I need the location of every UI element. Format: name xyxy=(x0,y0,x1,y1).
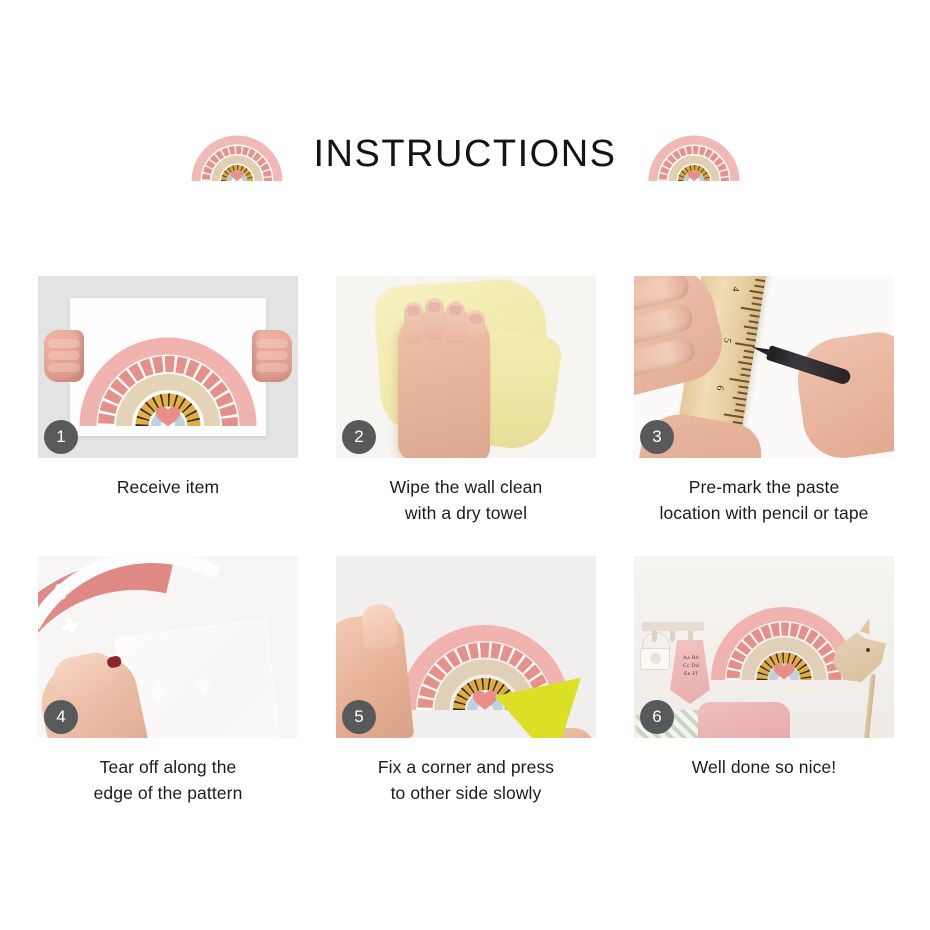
step-photo-1: 1 xyxy=(38,276,298,458)
ruler-number: 6 xyxy=(714,385,726,392)
step-card-3: 4 5 6 7 3 Pre-mark the paste location wi… xyxy=(634,276,894,526)
caption-line: Tear off along the xyxy=(38,754,298,780)
step-caption-1: Receive item xyxy=(38,474,298,500)
bag-letters: Aa Bb Cc Dd Ee Ff xyxy=(674,654,708,678)
rainbow-icon-right xyxy=(647,124,741,184)
step-caption-2: Wipe the wall clean with a dry towel xyxy=(336,474,596,526)
pink-pillow xyxy=(698,702,790,738)
pen-holding-hand xyxy=(792,329,894,458)
toy-camera xyxy=(640,648,670,670)
step-badge-6: 6 xyxy=(640,700,674,734)
caption-line: Well done so nice! xyxy=(634,754,894,780)
caption-line: with a dry towel xyxy=(336,500,596,526)
instruction-steps-grid: 1 Receive item 2 Wipe the wall clean wit… xyxy=(38,276,894,806)
step-badge-3: 3 xyxy=(640,420,674,454)
step-photo-5: 5 xyxy=(336,556,596,738)
step-badge-2: 2 xyxy=(342,420,376,454)
rainbow-icon-left xyxy=(190,124,284,184)
right-hand xyxy=(252,330,292,382)
wall-hook-rack xyxy=(642,622,704,631)
step-card-5: 5 Fix a corner and press to other side s… xyxy=(336,556,596,806)
caption-line: Wipe the wall clean xyxy=(336,474,596,500)
ruler-number: 5 xyxy=(721,337,733,344)
step-caption-3: Pre-mark the paste location with pencil … xyxy=(634,474,894,526)
step-card-2: 2 Wipe the wall clean with a dry towel xyxy=(336,276,596,526)
unicorn-eye-icon xyxy=(866,648,870,652)
page-title: INSTRUCTIONS xyxy=(314,135,617,173)
step-badge-1: 1 xyxy=(44,420,78,454)
step-photo-4: 4 xyxy=(38,556,298,738)
wiping-hand xyxy=(398,312,490,458)
caption-line: Fix a corner and press xyxy=(336,754,596,780)
printed-sheet xyxy=(70,298,266,436)
step-caption-5: Fix a corner and press to other side slo… xyxy=(336,754,596,806)
page-header: INSTRUCTIONS xyxy=(0,118,930,190)
step-card-4: 4 Tear off along the edge of the pattern xyxy=(38,556,298,806)
caption-line: to other side slowly xyxy=(336,780,596,806)
step-caption-4: Tear off along the edge of the pattern xyxy=(38,754,298,806)
step-card-1: 1 Receive item xyxy=(38,276,298,526)
step-badge-5: 5 xyxy=(342,700,376,734)
step-badge-4: 4 xyxy=(44,700,78,734)
step-photo-2: 2 xyxy=(336,276,596,458)
caption-line: Receive item xyxy=(38,474,298,500)
caption-line: edge of the pattern xyxy=(38,780,298,806)
step-caption-6: Well done so nice! xyxy=(634,754,894,780)
caption-line: Pre-mark the paste xyxy=(634,474,894,500)
step-card-6: Aa Bb Cc Dd Ee Ff 6 Well done so nice! xyxy=(634,556,894,806)
ruler-number: 4 xyxy=(729,286,741,293)
left-hand xyxy=(44,330,84,382)
step-photo-6: Aa Bb Cc Dd Ee Ff 6 xyxy=(634,556,894,738)
caption-line: location with pencil or tape xyxy=(634,500,894,526)
step-photo-3: 4 5 6 7 3 xyxy=(634,276,894,458)
